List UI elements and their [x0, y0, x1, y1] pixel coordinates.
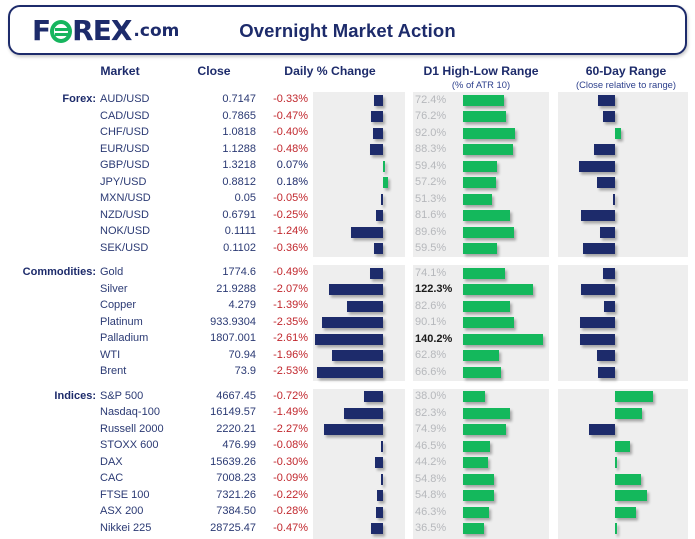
- column-header-close: Close: [186, 64, 242, 78]
- daily-change-bar: [317, 367, 383, 378]
- d1-range-value: 54.8%: [415, 473, 461, 485]
- d1-range-bar: [463, 243, 497, 254]
- sixty-day-range-bar: [600, 227, 615, 238]
- close-value: 7321.26: [186, 489, 256, 501]
- d1-range-bar: [463, 301, 510, 312]
- d1-range-value: 90.1%: [415, 316, 461, 328]
- d1-range-value: 74.9%: [415, 423, 461, 435]
- d1-range-bar: [463, 161, 497, 172]
- close-value: 15639.26: [186, 456, 256, 468]
- daily-change-bar: [374, 95, 383, 106]
- close-value: 933.9304: [186, 316, 256, 328]
- daily-change-value: 0.07%: [260, 159, 308, 171]
- daily-change-value: -0.08%: [260, 439, 308, 451]
- market-table: Forex:AUD/USD0.7147-0.33%72.4%CAD/USD0.7…: [0, 92, 695, 539]
- sixty-day-range-bar: [580, 317, 615, 328]
- column-header-d1-range: D1 High-Low Range (% of ATR 10): [406, 64, 556, 90]
- table-row: WTI70.94-1.96%62.8%: [0, 348, 695, 365]
- daily-change-value: -1.96%: [260, 349, 308, 361]
- table-row: Commodities:Gold1774.6-0.49%74.1%: [0, 265, 695, 282]
- daily-change-bar: [371, 111, 383, 122]
- table-row: GBP/USD1.32180.07%59.4%: [0, 158, 695, 175]
- d1-range-value: 74.1%: [415, 267, 461, 279]
- daily-change-value: 0.18%: [260, 176, 308, 188]
- d1-range-value: 82.3%: [415, 407, 461, 419]
- table-row: Palladium1807.001-2.61%140.2%: [0, 331, 695, 348]
- daily-change-bar: [377, 490, 383, 501]
- close-value: 2220.21: [186, 423, 256, 435]
- table-row: EUR/USD1.1288-0.48%88.3%: [0, 142, 695, 159]
- daily-change-bar: [329, 284, 383, 295]
- close-value: 0.8812: [186, 176, 256, 188]
- table-row: Copper4.279-1.39%82.6%: [0, 298, 695, 315]
- daily-change-value: -2.61%: [260, 332, 308, 344]
- d1-range-bar: [463, 441, 490, 452]
- daily-change-bar: [347, 301, 383, 312]
- table-row: Indices:S&P 5004667.45-0.72%38.0%: [0, 389, 695, 406]
- close-value: 0.7147: [186, 93, 256, 105]
- daily-change-bar: [381, 194, 383, 205]
- d1-range-bar: [463, 424, 506, 435]
- d1-range-value: 38.0%: [415, 390, 461, 402]
- close-value: 21.9288: [186, 283, 256, 295]
- sixty-day-range-bar: [615, 408, 642, 419]
- daily-change-bar: [370, 268, 383, 279]
- daily-change-value: -0.48%: [260, 143, 308, 155]
- d1-range-value: 59.4%: [415, 160, 461, 172]
- close-value: 70.94: [186, 349, 256, 361]
- d1-range-value: 88.3%: [415, 143, 461, 155]
- sixty-day-range-bar: [615, 523, 617, 534]
- daily-change-value: -1.24%: [260, 225, 308, 237]
- d1-range-bar: [463, 408, 510, 419]
- table-row: Nikkei 22528725.47-0.47%36.5%: [0, 521, 695, 538]
- d1-range-bar: [463, 367, 501, 378]
- d1-range-bar: [463, 391, 485, 402]
- daily-change-bar: [376, 210, 383, 221]
- d1-range-bar: [463, 474, 494, 485]
- daily-change-bar: [375, 457, 383, 468]
- sixty-day-range-bar: [594, 144, 615, 155]
- table-row: STOXX 600476.99-0.08%46.5%: [0, 438, 695, 455]
- daily-change-bar: [381, 441, 383, 452]
- market-group: Commodities:Gold1774.6-0.49%74.1%Silver2…: [0, 265, 695, 381]
- close-value: 0.7865: [186, 110, 256, 122]
- daily-change-bar: [322, 317, 383, 328]
- d1-range-value: 51.3%: [415, 193, 461, 205]
- sixty-day-range-bar: [598, 367, 615, 378]
- d1-range-value: 66.6%: [415, 366, 461, 378]
- table-row: JPY/USD0.88120.18%57.2%: [0, 175, 695, 192]
- daily-change-value: -1.49%: [260, 406, 308, 418]
- d1-range-value: 36.5%: [415, 522, 461, 534]
- daily-change-value: -0.22%: [260, 489, 308, 501]
- close-value: 7008.23: [186, 472, 256, 484]
- table-row: CAC7008.23-0.09%54.8%: [0, 471, 695, 488]
- column-header-60day-range: 60-Day Range (Close relative to range): [556, 64, 695, 90]
- d1-range-value: 140.2%: [415, 333, 461, 345]
- daily-change-bar: [376, 507, 383, 518]
- table-row: Nasdaq-10016149.57-1.49%82.3%: [0, 405, 695, 422]
- table-row: NOK/USD0.1111-1.24%89.6%: [0, 224, 695, 241]
- sixty-day-range-bar: [603, 268, 615, 279]
- d1-range-bar: [463, 177, 496, 188]
- d1-range-value: 59.5%: [415, 242, 461, 254]
- d1-range-value: 72.4%: [415, 94, 461, 106]
- d1-range-value: 62.8%: [415, 349, 461, 361]
- d1-range-value: 81.6%: [415, 209, 461, 221]
- daily-change-value: -0.30%: [260, 456, 308, 468]
- daily-change-bar: [351, 227, 383, 238]
- close-value: 4.279: [186, 299, 256, 311]
- d1-range-value: 46.3%: [415, 506, 461, 518]
- daily-change-value: -2.53%: [260, 365, 308, 377]
- d1-range-value: 46.5%: [415, 440, 461, 452]
- d1-range-bar: [463, 284, 533, 295]
- daily-change-value: -0.47%: [260, 110, 308, 122]
- d1-range-value: 89.6%: [415, 226, 461, 238]
- d1-range-bar: [463, 227, 514, 238]
- sixty-day-range-bar: [581, 210, 615, 221]
- d1-range-value: 82.6%: [415, 300, 461, 312]
- market-group: Indices:S&P 5004667.45-0.72%38.0%Nasdaq-…: [0, 389, 695, 539]
- close-value: 7384.50: [186, 505, 256, 517]
- table-row: NZD/USD0.6791-0.25%81.6%: [0, 208, 695, 225]
- daily-change-bar: [315, 334, 383, 345]
- daily-change-value: -0.05%: [260, 192, 308, 204]
- table-row: Russell 20002220.21-2.27%74.9%: [0, 422, 695, 439]
- d1-range-bar: [463, 210, 510, 221]
- column-header-market: Market: [78, 64, 162, 78]
- sixty-day-range-bar: [589, 424, 615, 435]
- column-header-d1-sub: (% of ATR 10): [406, 79, 556, 90]
- d1-range-bar: [463, 457, 488, 468]
- daily-change-value: -0.40%: [260, 126, 308, 138]
- sixty-day-range-bar: [604, 301, 615, 312]
- daily-change-value: -1.39%: [260, 299, 308, 311]
- daily-change-value: -0.25%: [260, 209, 308, 221]
- group-label: Indices:: [0, 390, 96, 402]
- daily-change-bar: [344, 408, 383, 419]
- sixty-day-range-bar: [583, 243, 615, 254]
- column-header-daily-change: Daily % Change: [272, 64, 388, 78]
- daily-change-bar: [374, 243, 383, 254]
- d1-range-bar: [463, 194, 492, 205]
- close-value: 28725.47: [186, 522, 256, 534]
- d1-range-value: 54.8%: [415, 489, 461, 501]
- d1-range-value: 76.2%: [415, 110, 461, 122]
- daily-change-value: -0.72%: [260, 390, 308, 402]
- sixty-day-range-bar: [615, 474, 641, 485]
- close-value: 476.99: [186, 439, 256, 451]
- d1-range-value: 44.2%: [415, 456, 461, 468]
- daily-change-bar: [364, 391, 383, 402]
- sixty-day-range-bar: [613, 194, 615, 205]
- daily-change-bar: [370, 144, 383, 155]
- d1-range-bar: [463, 268, 505, 279]
- close-value: 0.1102: [186, 242, 256, 254]
- daily-change-value: -2.27%: [260, 423, 308, 435]
- d1-range-bar: [463, 144, 513, 155]
- page-title: Overnight Market Action: [10, 20, 685, 42]
- d1-range-bar: [463, 350, 499, 361]
- sixty-day-range-bar: [615, 507, 636, 518]
- sixty-day-range-bar: [580, 334, 615, 345]
- d1-range-bar: [463, 490, 494, 501]
- d1-range-bar: [463, 95, 504, 106]
- d1-range-bar: [463, 507, 489, 518]
- market-dashboard: F REX .com Overnight Market Action Marke…: [0, 0, 695, 539]
- column-header-60day-sub: (Close relative to range): [556, 79, 695, 90]
- daily-change-bar: [324, 424, 383, 435]
- d1-range-bar: [463, 334, 543, 345]
- close-value: 4667.45: [186, 390, 256, 402]
- close-value: 1.0818: [186, 126, 256, 138]
- column-header-d1-label: D1 High-Low Range: [423, 64, 538, 78]
- table-row: Forex:AUD/USD0.7147-0.33%72.4%: [0, 92, 695, 109]
- d1-range-bar: [463, 111, 506, 122]
- daily-change-bar: [332, 350, 383, 361]
- market-group: Forex:AUD/USD0.7147-0.33%72.4%CAD/USD0.7…: [0, 92, 695, 257]
- d1-range-bar: [463, 128, 515, 139]
- daily-change-value: -0.49%: [260, 266, 308, 278]
- table-row: MXN/USD0.05-0.05%51.3%: [0, 191, 695, 208]
- daily-change-bar: [383, 177, 388, 188]
- table-row: DAX15639.26-0.30%44.2%: [0, 455, 695, 472]
- group-label: Forex:: [0, 93, 96, 105]
- sixty-day-range-bar: [615, 457, 617, 468]
- close-value: 1774.6: [186, 266, 256, 278]
- daily-change-value: -2.35%: [260, 316, 308, 328]
- close-value: 1.3218: [186, 159, 256, 171]
- table-row: SEK/USD0.1102-0.36%59.5%: [0, 241, 695, 258]
- group-label: Commodities:: [0, 266, 96, 278]
- d1-range-value: 92.0%: [415, 127, 461, 139]
- table-row: FTSE 1007321.26-0.22%54.8%: [0, 488, 695, 505]
- daily-change-value: -0.36%: [260, 242, 308, 254]
- daily-change-bar: [371, 523, 383, 534]
- d1-range-bar: [463, 523, 484, 534]
- close-value: 73.9: [186, 365, 256, 377]
- table-row: ASX 2007384.50-0.28%46.3%: [0, 504, 695, 521]
- sixty-day-range-bar: [615, 128, 621, 139]
- table-row: Brent73.9-2.53%66.6%: [0, 364, 695, 381]
- close-value: 1.1288: [186, 143, 256, 155]
- daily-change-value: -0.09%: [260, 472, 308, 484]
- column-header-60day-label: 60-Day Range: [586, 64, 667, 78]
- table-row: CAD/USD0.7865-0.47%76.2%: [0, 109, 695, 126]
- daily-change-value: -0.47%: [260, 522, 308, 534]
- close-value: 16149.57: [186, 406, 256, 418]
- close-value: 1807.001: [186, 332, 256, 344]
- sixty-day-range-bar: [597, 350, 615, 361]
- daily-change-value: -0.28%: [260, 505, 308, 517]
- daily-change-value: -2.07%: [260, 283, 308, 295]
- daily-change-value: -0.33%: [260, 93, 308, 105]
- sixty-day-range-bar: [597, 177, 615, 188]
- table-row: Silver21.9288-2.07%122.3%: [0, 282, 695, 299]
- daily-change-bar: [381, 474, 383, 485]
- table-row: Platinum933.9304-2.35%90.1%: [0, 315, 695, 332]
- close-value: 0.6791: [186, 209, 256, 221]
- sixty-day-range-bar: [579, 161, 615, 172]
- daily-change-bar: [383, 161, 385, 172]
- sixty-day-range-bar: [615, 391, 653, 402]
- close-value: 0.1111: [186, 225, 256, 237]
- sixty-day-range-bar: [598, 95, 615, 106]
- d1-range-value: 122.3%: [415, 283, 461, 295]
- sixty-day-range-bar: [603, 111, 615, 122]
- sixty-day-range-bar: [581, 284, 615, 295]
- d1-range-value: 57.2%: [415, 176, 461, 188]
- header-card: F REX .com Overnight Market Action: [8, 5, 687, 55]
- daily-change-bar: [373, 128, 383, 139]
- d1-range-bar: [463, 317, 514, 328]
- close-value: 0.05: [186, 192, 256, 204]
- table-row: CHF/USD1.0818-0.40%92.0%: [0, 125, 695, 142]
- sixty-day-range-bar: [615, 490, 647, 501]
- sixty-day-range-bar: [615, 441, 630, 452]
